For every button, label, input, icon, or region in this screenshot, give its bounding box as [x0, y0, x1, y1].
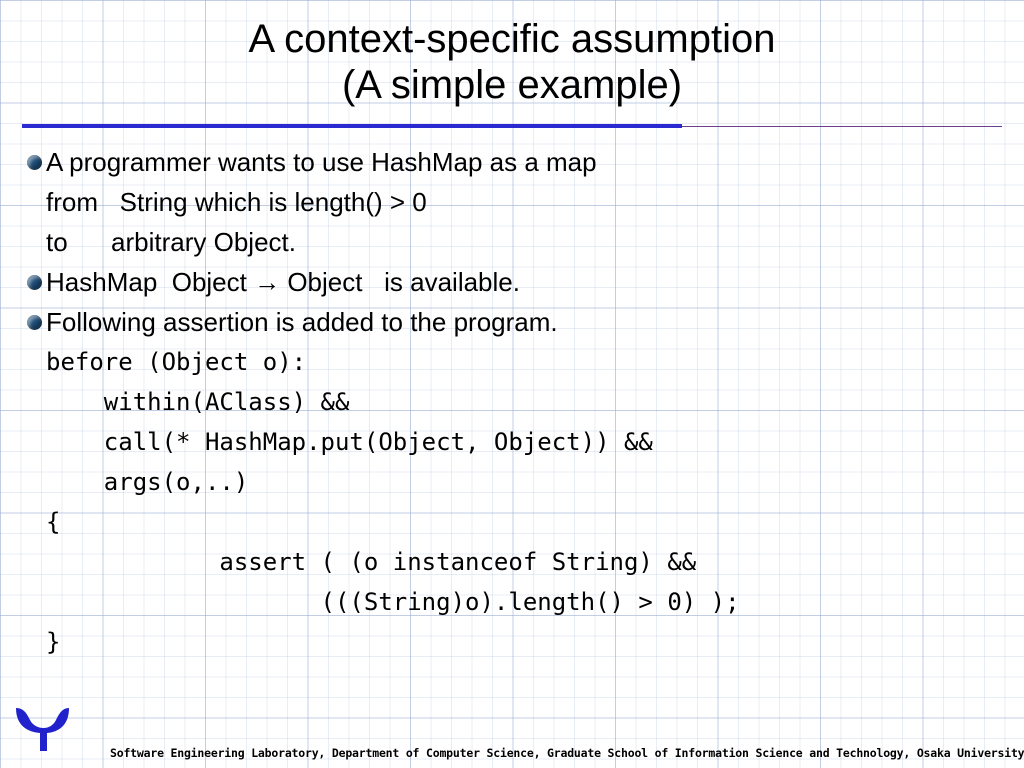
bullet-icon — [24, 302, 46, 342]
code-line-5: { — [46, 502, 1004, 542]
list-item: HashMap Object → Object is available. — [24, 262, 1004, 302]
sub-line-1: from String which is length() > 0 — [46, 182, 1004, 222]
bullet-icon — [24, 142, 46, 182]
code-line-1: before (Object o): — [46, 342, 1004, 382]
code-line-8: } — [46, 622, 1004, 662]
bullet-text-1: A programmer wants to use HashMap as a m… — [46, 142, 597, 182]
code-line-3: call(* HashMap.put(Object, Object)) && — [46, 422, 1004, 462]
title-line-1: A context-specific assumption — [0, 16, 1024, 62]
bullet-text-3: Following assertion is added to the prog… — [46, 302, 558, 342]
bullet-icon — [24, 262, 46, 302]
title-divider-thick — [22, 124, 682, 128]
sub-line-2: to arbitrary Object. — [46, 222, 1004, 262]
title-line-2: (A simple example) — [0, 62, 1024, 108]
footer-text: Software Engineering Laboratory, Departm… — [110, 746, 1010, 760]
slide-canvas: A context-specific assumption (A simple … — [0, 0, 1024, 768]
code-line-4: args(o,..) — [46, 462, 1004, 502]
code-line-7: (((String)o).length() > 0) ); — [46, 582, 1004, 622]
osaka-university-logo-icon — [14, 702, 70, 754]
title-divider — [22, 124, 1002, 128]
logo-shape — [16, 708, 69, 751]
code-line-6: assert ( (o instanceof String) && — [46, 542, 1004, 582]
slide-title: A context-specific assumption (A simple … — [0, 16, 1024, 108]
code-line-2: within(AClass) && — [46, 382, 1004, 422]
slide-body: A programmer wants to use HashMap as a m… — [24, 142, 1004, 662]
list-item: Following assertion is added to the prog… — [24, 302, 1004, 342]
list-item: A programmer wants to use HashMap as a m… — [24, 142, 1004, 182]
bullet-text-2: HashMap Object → Object is available. — [46, 262, 520, 302]
